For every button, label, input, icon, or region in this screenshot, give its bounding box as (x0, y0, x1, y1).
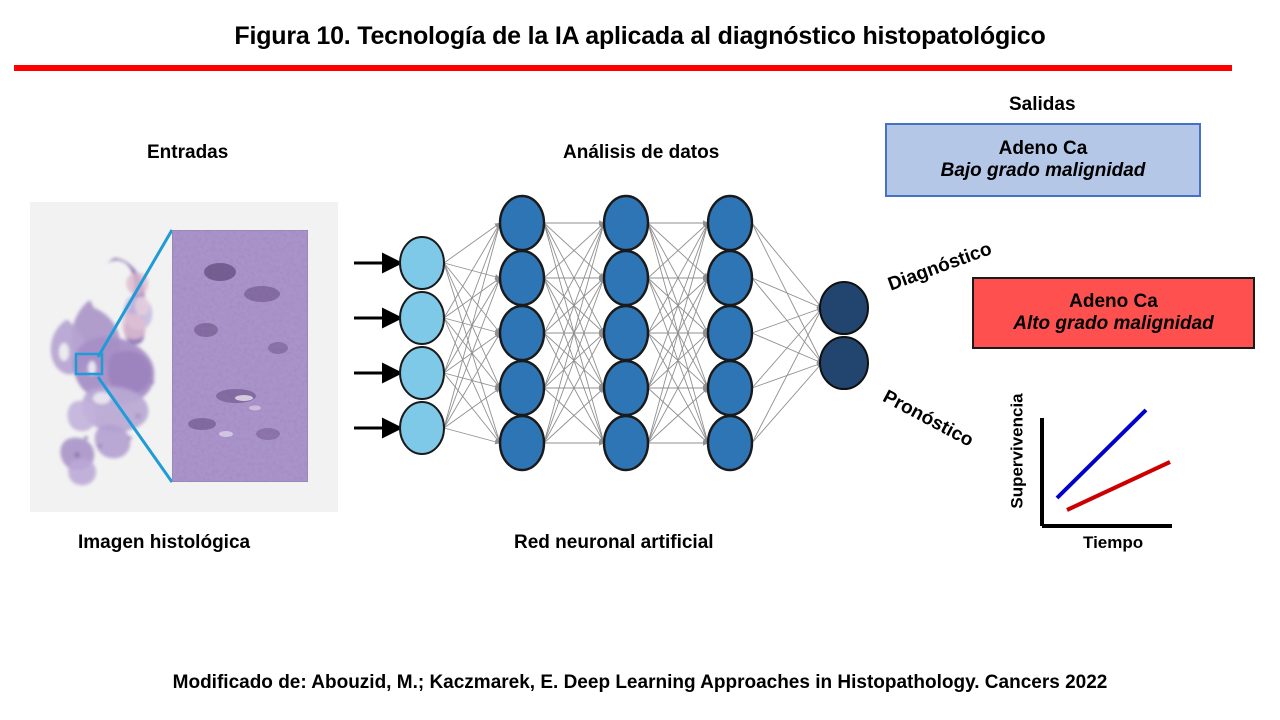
neural-network-caption: Red neuronal artificial (514, 532, 714, 554)
output-high-grade-box[interactable]: Adeno Ca Alto grado malignidad (972, 277, 1255, 349)
chart-y-axis-label-text: Supervivencia (1008, 393, 1028, 508)
outputs-section-label: Salidas (1009, 94, 1076, 116)
analysis-section-label: Análisis de datos (563, 142, 719, 164)
hidden-layer-2-nodes (604, 196, 648, 470)
chart-y-axis-label: Supervivencia (1009, 378, 1027, 524)
output-layer-nodes (820, 282, 868, 389)
chart-series-high-grade (1067, 462, 1170, 510)
histology-image-caption: Imagen histológica (78, 532, 250, 554)
output-high-grade-subtitle: Alto grado malignidad (1013, 313, 1214, 335)
chart-x-axis-label: Tiempo (1083, 533, 1143, 553)
input-arrows (354, 263, 400, 428)
output-high-grade-title: Adeno Ca (1069, 291, 1158, 313)
chart-series-low-grade (1057, 410, 1146, 498)
output-low-grade-box[interactable]: Adeno Ca Bajo grado malignidad (885, 123, 1201, 197)
histology-image-panel (30, 202, 338, 512)
output-low-grade-subtitle: Bajo grado malignidad (941, 160, 1146, 182)
edges-input-to-hidden1 (444, 223, 500, 443)
hidden-layer-3-nodes (708, 196, 752, 470)
input-layer-nodes (400, 237, 444, 454)
histology-illustration (30, 202, 338, 512)
hidden-layer-1-nodes (500, 196, 544, 470)
neural-network-diagram (352, 185, 882, 495)
edges-hidden1-to-hidden2 (544, 223, 604, 443)
edges-hidden2-to-hidden3 (648, 223, 708, 443)
title-divider-rule (14, 65, 1232, 71)
edges-hidden3-to-output (752, 223, 822, 443)
inputs-section-label: Entradas (147, 142, 228, 164)
source-citation: Modificado de: Abouzid, M.; Kaczmarek, E… (0, 672, 1280, 694)
branch-label-prognosis: Pronóstico (879, 386, 977, 452)
zoomed-histology-tile (172, 230, 308, 482)
output-low-grade-title: Adeno Ca (999, 138, 1088, 160)
page-title: Figura 10. Tecnología de la IA aplicada … (0, 22, 1280, 51)
